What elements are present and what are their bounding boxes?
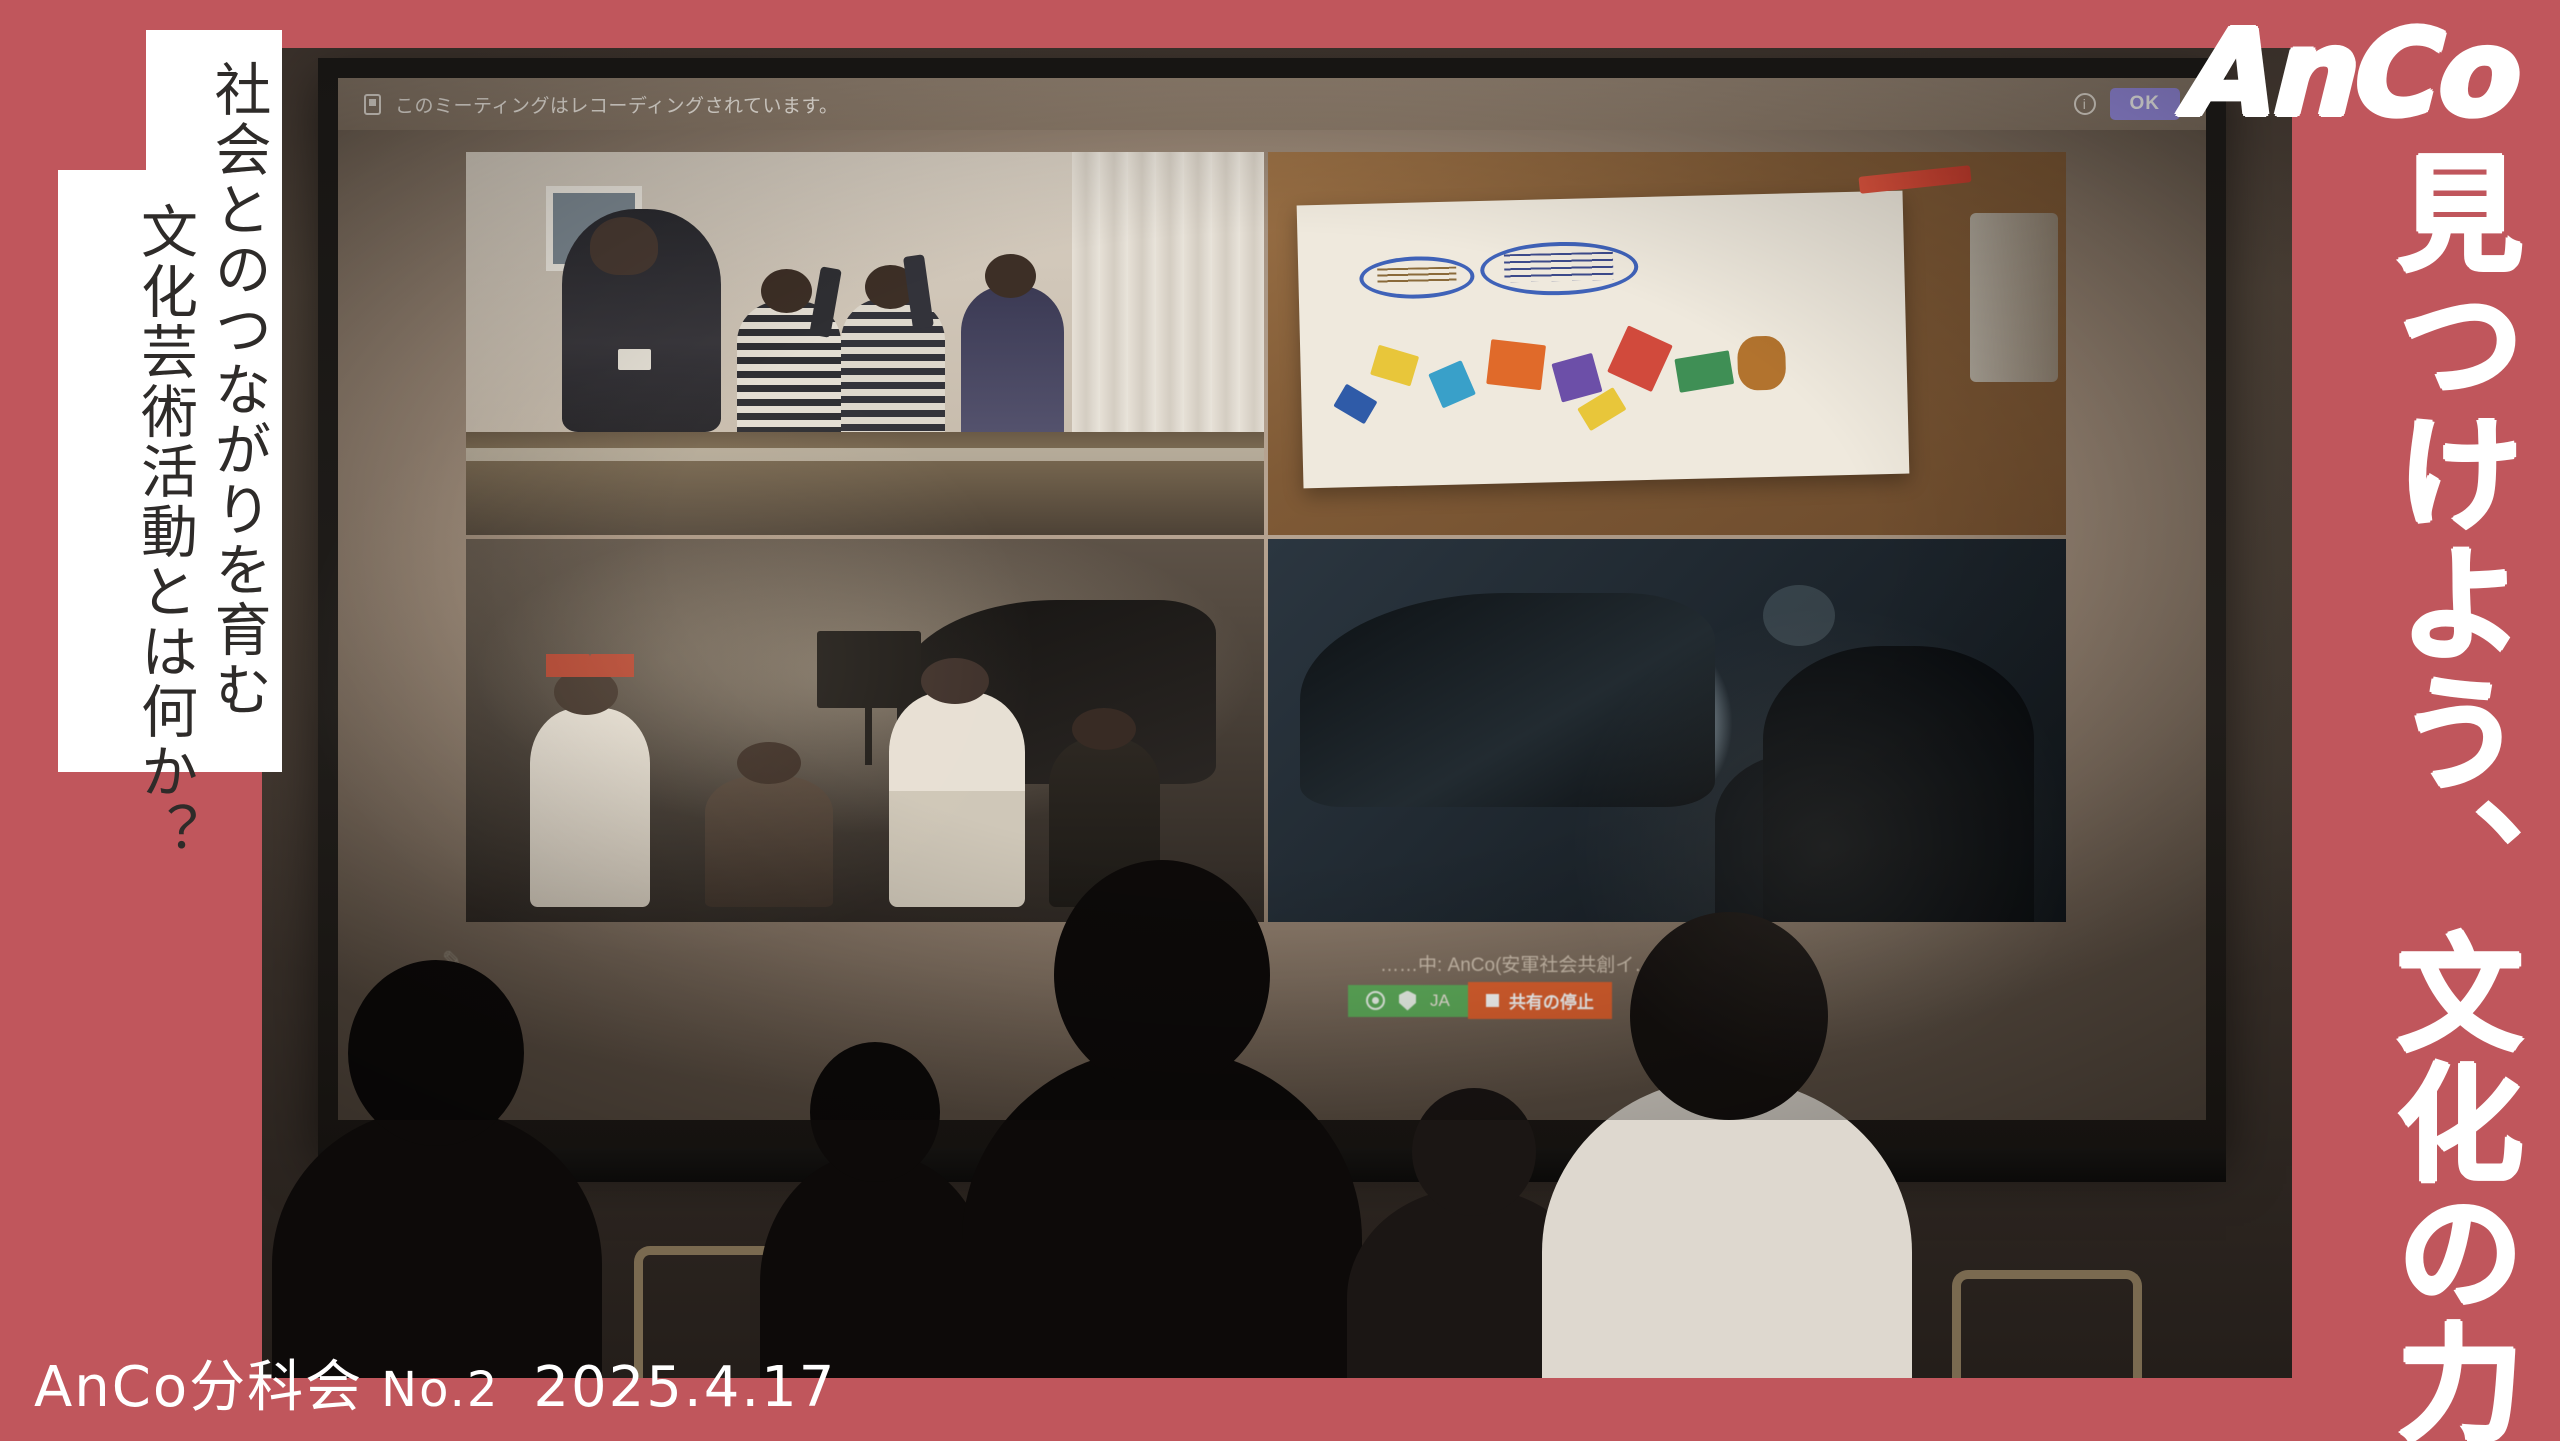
catch-copy: 見つけよう、文化の力 <box>2386 148 2512 1441</box>
footer-series: AnCo分科会 <box>34 1355 363 1420</box>
footer-date: 2025.4.17 <box>533 1355 836 1420</box>
record-icon <box>364 94 381 115</box>
title-line-main: 文化芸術活動とは何か？ <box>133 202 195 862</box>
ok-button[interactable]: OK <box>2110 88 2181 120</box>
anco-logo: AnCo <box>2184 14 2521 132</box>
recording-notice-text: このミーティングはレコーディングされています。 <box>395 91 839 118</box>
frame-top <box>0 0 2560 48</box>
zoom-recording-bar: このミーティングはレコーディングされています。 i OK <box>338 78 2206 130</box>
poster-canvas: このミーティングはレコーディングされています。 i OK <box>0 0 2560 1441</box>
craft-paper-desk-photo <box>1268 152 2066 535</box>
photo-grid <box>466 152 2066 922</box>
workshop-classroom-photo <box>466 152 1264 535</box>
footer-caption: AnCo分科会No.22025.4.17 <box>34 1342 836 1423</box>
title-panel-text: 社会とのつながりを育む 文化芸術活動とは何か？ <box>58 30 282 740</box>
background-photo: このミーティングはレコーディングされています。 i OK <box>262 48 2292 1378</box>
footer-number: No.2 <box>381 1362 499 1418</box>
title-panel: 社会とのつながりを育む 文化芸術活動とは何か？ <box>58 30 282 740</box>
title-line-subtitle: 社会とのつながりを育む <box>206 60 268 720</box>
info-icon[interactable]: i <box>2074 93 2096 115</box>
audience-silhouettes <box>262 818 2292 1378</box>
